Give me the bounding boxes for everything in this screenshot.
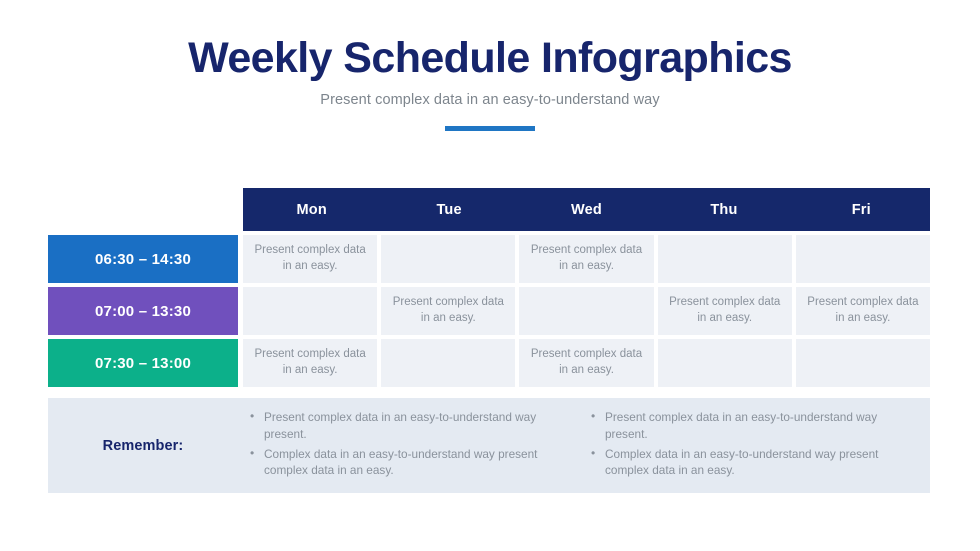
- cell-r3-wed: Present complex data in an easy.: [519, 339, 653, 387]
- column-header-mon: Mon: [243, 202, 380, 218]
- remember-label: Remember:: [48, 438, 238, 454]
- time-pill-label: 07:30 – 13:00: [48, 339, 238, 387]
- row-2-cells: Present complex data in an easy. Present…: [243, 287, 930, 335]
- page-title: Weekly Schedule Infographics: [0, 34, 980, 82]
- time-slot-2: 07:00 – 13:30: [48, 287, 238, 335]
- table-row: 07:30 – 13:00 Present complex data in an…: [48, 339, 930, 387]
- cell-r2-wed: [519, 287, 653, 335]
- cell-r1-mon: Present complex data in an easy.: [243, 235, 377, 283]
- cell-r3-fri: [796, 339, 930, 387]
- cell-r2-tue: Present complex data in an easy.: [381, 287, 515, 335]
- column-header-wed: Wed: [518, 202, 655, 218]
- cell-r2-fri: Present complex data in an easy.: [796, 287, 930, 335]
- remember-columns: Present complex data in an easy-to-under…: [238, 409, 930, 482]
- table-row: 07:00 – 13:30 Present complex data in an…: [48, 287, 930, 335]
- cell-r1-tue: [381, 235, 515, 283]
- list-item: Complex data in an easy-to-understand wa…: [248, 446, 565, 480]
- bullet-list-right: Present complex data in an easy-to-under…: [589, 409, 906, 479]
- cell-r3-mon: Present complex data in an easy.: [243, 339, 377, 387]
- bullet-list-left: Present complex data in an easy-to-under…: [248, 409, 565, 479]
- slide-canvas: Weekly Schedule Infographics Present com…: [0, 0, 980, 551]
- remember-section: Remember: Present complex data in an eas…: [48, 398, 930, 493]
- page-subtitle: Present complex data in an easy-to-under…: [0, 92, 980, 108]
- cell-r1-thu: [658, 235, 792, 283]
- list-item: Present complex data in an easy-to-under…: [248, 409, 565, 443]
- table-header-row: Mon Tue Wed Thu Fri: [48, 188, 930, 231]
- cell-r1-fri: [796, 235, 930, 283]
- list-item: Present complex data in an easy-to-under…: [589, 409, 906, 443]
- day-header-bar: Mon Tue Wed Thu Fri: [243, 188, 930, 231]
- time-slot-3: 07:30 – 13:00: [48, 339, 238, 387]
- header-corner-spacer: [48, 188, 238, 231]
- cell-r2-mon: [243, 287, 377, 335]
- cell-r3-tue: [381, 339, 515, 387]
- list-item: Complex data in an easy-to-understand wa…: [589, 446, 906, 480]
- table-row: 06:30 – 14:30 Present complex data in an…: [48, 235, 930, 283]
- time-pill-label: 07:00 – 13:30: [48, 287, 238, 335]
- column-header-fri: Fri: [793, 202, 930, 218]
- remember-column-right: Present complex data in an easy-to-under…: [589, 409, 930, 482]
- column-header-tue: Tue: [380, 202, 517, 218]
- cell-r1-wed: Present complex data in an easy.: [519, 235, 653, 283]
- schedule-table: Mon Tue Wed Thu Fri 06:30 – 14:30 Presen…: [48, 188, 930, 391]
- row-3-cells: Present complex data in an easy. Present…: [243, 339, 930, 387]
- column-header-thu: Thu: [655, 202, 792, 218]
- time-slot-1: 06:30 – 14:30: [48, 235, 238, 283]
- remember-column-left: Present complex data in an easy-to-under…: [248, 409, 589, 482]
- cell-r3-thu: [658, 339, 792, 387]
- row-1-cells: Present complex data in an easy. Present…: [243, 235, 930, 283]
- time-pill-label: 06:30 – 14:30: [48, 235, 238, 283]
- slide-header: Weekly Schedule Infographics Present com…: [0, 0, 980, 131]
- accent-underline: [445, 126, 535, 131]
- cell-r2-thu: Present complex data in an easy.: [658, 287, 792, 335]
